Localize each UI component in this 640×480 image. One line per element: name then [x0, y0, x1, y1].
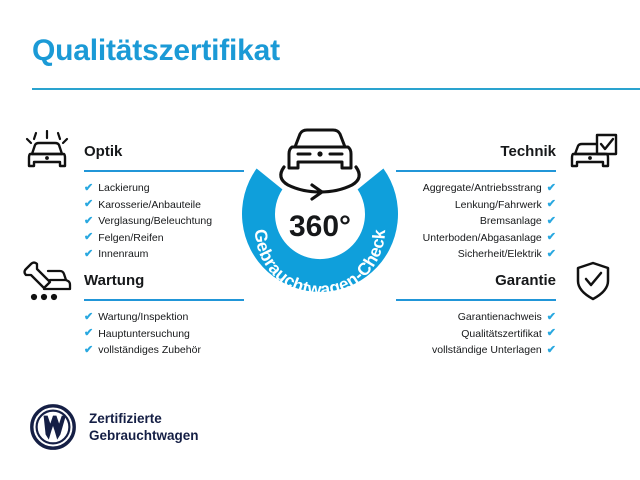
checklist-garantie: ✔Garantienachweis ✔Qualitätszertifikat ✔… [390, 301, 622, 359]
check-icon: ✔ [84, 199, 93, 210]
list-item-label: Aggregate/Antriebsstrang [423, 180, 542, 197]
list-item: ✔Garantienachweis [390, 309, 556, 326]
list-item-label: Lenkung/Fahrwerk [455, 197, 542, 214]
footer-branding: Zertifizierte Gebrauchtwagen [30, 404, 199, 450]
list-item: ✔Bremsanlage [390, 213, 556, 230]
section-wartung: Wartung ✔Wartung/Inspektion ✔Hauptunters… [18, 259, 250, 359]
section-optik: Optik ✔Lackierung ✔Karosserie/Anbauteile… [18, 130, 250, 263]
section-divider [396, 170, 556, 172]
footer-line-1: Zertifizierte [89, 411, 162, 426]
list-item: ✔Verglasung/Beleuchtung [84, 213, 250, 230]
list-item: ✔Aggregate/Antriebsstrang [390, 180, 556, 197]
badge-360-gebrauchtwagen-check: Gebrauchtwagen-Check 360° [232, 118, 408, 312]
footer-line-2: Gebrauchtwagen [89, 428, 199, 443]
car-checkbox-icon [566, 130, 620, 174]
section-divider [84, 170, 244, 172]
car-wrench-icon [20, 259, 74, 303]
list-item: ✔vollständige Unterlagen [390, 342, 556, 359]
section-title: Technik [500, 143, 556, 160]
section-header: Garantie [390, 259, 622, 301]
check-icon: ✔ [547, 199, 556, 210]
section-title: Optik [84, 143, 122, 160]
section-title: Wartung [84, 272, 144, 289]
section-garantie: Garantie ✔Garantienachweis ✔Qualitätszer… [390, 259, 622, 359]
check-icon: ✔ [547, 232, 556, 243]
list-item-label: Garantienachweis [458, 309, 542, 326]
list-item: ✔vollständiges Zubehör [84, 342, 250, 359]
list-item: ✔Lackierung [84, 180, 250, 197]
list-item-label: Lackierung [98, 180, 149, 197]
check-icon: ✔ [84, 216, 93, 227]
list-item-label: Bremsanlage [480, 213, 542, 230]
page-title: Qualitätszertifikat [32, 34, 280, 68]
volkswagen-logo [30, 404, 76, 450]
section-divider [84, 299, 244, 301]
list-item: ✔Unterboden/Abgasanlage [390, 230, 556, 247]
car-shine-icon [20, 130, 74, 174]
checklist-wartung: ✔Wartung/Inspektion ✔Hauptuntersuchung ✔… [18, 301, 250, 359]
section-divider [396, 299, 556, 301]
checklist-technik: ✔Aggregate/Antriebsstrang ✔Lenkung/Fahrw… [390, 172, 622, 263]
list-item: ✔Qualitätszertifikat [390, 326, 556, 343]
shield-check-icon [566, 259, 620, 303]
checklist-optik: ✔Lackierung ✔Karosserie/Anbauteile ✔Verg… [18, 172, 250, 263]
header-divider [32, 88, 640, 90]
section-header: Wartung [18, 259, 250, 301]
check-icon: ✔ [84, 312, 93, 323]
list-item: ✔Karosserie/Anbauteile [84, 197, 250, 214]
qualitaetszertifikat-page: Qualitätszertifikat [0, 0, 640, 480]
section-title: Garantie [495, 272, 556, 289]
check-icon: ✔ [84, 183, 93, 194]
check-icon: ✔ [84, 232, 93, 243]
list-item: ✔Hauptuntersuchung [84, 326, 250, 343]
section-header: Optik [18, 130, 250, 172]
check-icon: ✔ [84, 345, 93, 356]
list-item-label: Unterboden/Abgasanlage [423, 230, 542, 247]
check-icon: ✔ [547, 345, 556, 356]
footer-text: Zertifizierte Gebrauchtwagen [89, 410, 199, 444]
list-item-label: Wartung/Inspektion [98, 309, 188, 326]
list-item: ✔Wartung/Inspektion [84, 309, 250, 326]
list-item-label: Hauptuntersuchung [98, 326, 190, 343]
check-icon: ✔ [84, 328, 93, 339]
list-item-label: Karosserie/Anbauteile [98, 197, 201, 214]
car-rotate-icon [289, 130, 351, 168]
check-icon: ✔ [547, 216, 556, 227]
check-icon: ✔ [547, 328, 556, 339]
list-item-label: vollständiges Zubehör [98, 342, 201, 359]
check-icon: ✔ [547, 183, 556, 194]
list-item-label: Verglasung/Beleuchtung [98, 213, 212, 230]
section-header: Technik [390, 130, 622, 172]
list-item-label: vollständige Unterlagen [432, 342, 542, 359]
list-item-label: Qualitätszertifikat [461, 326, 542, 343]
check-icon: ✔ [547, 312, 556, 323]
list-item: ✔Felgen/Reifen [84, 230, 250, 247]
list-item: ✔Lenkung/Fahrwerk [390, 197, 556, 214]
list-item-label: Felgen/Reifen [98, 230, 163, 247]
section-technik: Technik ✔Aggregate/Antriebsstrang ✔Lenku… [390, 130, 622, 263]
